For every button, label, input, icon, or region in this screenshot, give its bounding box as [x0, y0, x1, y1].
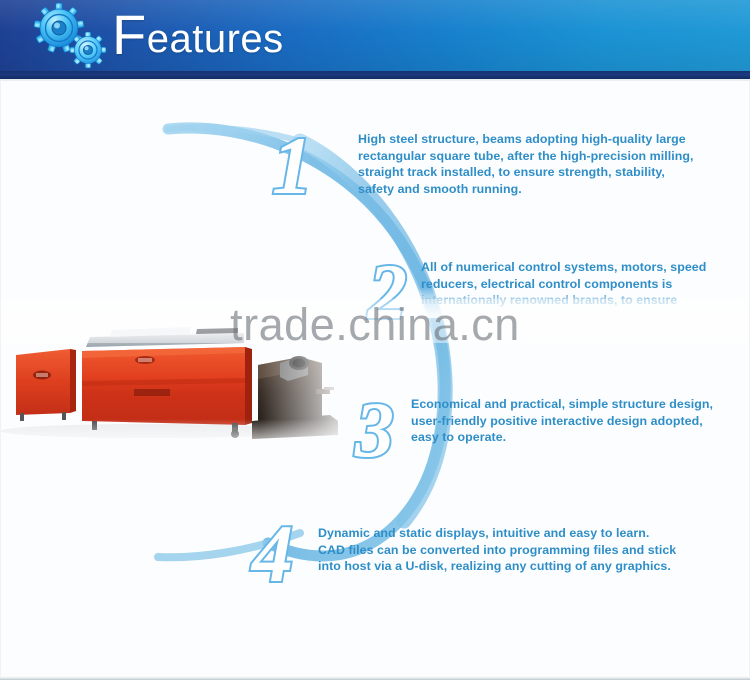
border-bottom	[0, 676, 750, 680]
feature-text-2: All of numerical control systems, motors…	[421, 259, 731, 309]
feature-number-2: 2	[368, 253, 407, 331]
gears-icon	[26, 2, 116, 70]
feature-number-3: 3	[355, 391, 394, 469]
page-title-initial: F	[112, 3, 147, 66]
page-title-rest: eatures	[147, 17, 284, 61]
header-bar: Features	[0, 0, 750, 71]
content-area: 1 2 3 4 High steel structure, beams adop…	[0, 81, 750, 680]
border-left	[0, 81, 1, 680]
feature-text-4: Dynamic and static displays, intuitive a…	[318, 525, 678, 575]
page-title: Features	[112, 1, 284, 71]
feature-banner: Features	[0, 0, 750, 680]
feature-text-3: Economical and practical, simple structu…	[411, 396, 731, 446]
feature-number-4: 4	[252, 513, 293, 595]
feature-number-1: 1	[272, 125, 313, 207]
product-photo	[0, 303, 362, 448]
header-underbar	[0, 71, 750, 79]
feature-text-1: High steel structure, beams adopting hig…	[358, 131, 698, 197]
